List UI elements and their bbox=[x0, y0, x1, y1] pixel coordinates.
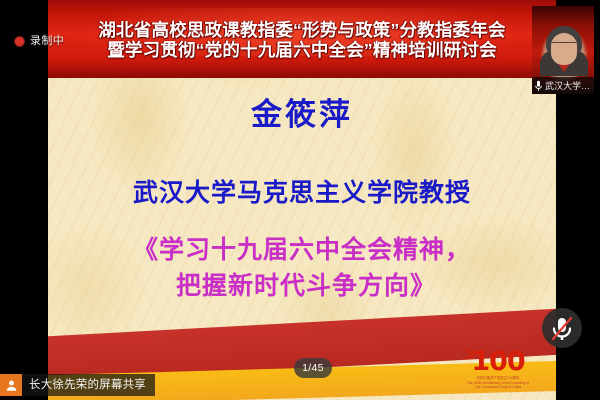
recording-label: 录制中 bbox=[30, 35, 64, 47]
microphone-muted-icon bbox=[542, 308, 582, 348]
hammer-and-sickle-icon bbox=[462, 347, 478, 363]
cpc-caption-line-3: The Communist Party of China bbox=[452, 385, 544, 390]
microphone-icon bbox=[534, 80, 543, 92]
meeting-screen-share-view: 湖北省高校思政课教指委“形势与政策”分教指委年会 暨学习贯彻“党的十九届六中全会… bbox=[0, 0, 600, 400]
letterbox-left bbox=[0, 0, 48, 400]
participant-name-bar: 武汉大学… bbox=[532, 77, 594, 94]
page-indicator: 1/45 bbox=[294, 358, 332, 378]
shared-slide[interactable]: 湖北省高校思政课教指委“形势与政策”分教指委年会 暨学习贯彻“党的十九届六中全会… bbox=[48, 0, 556, 400]
participant-glasses bbox=[552, 42, 576, 49]
participant-face bbox=[551, 33, 577, 65]
cpc-centenary-logo: 100 庆祝中国共产党成立100周年 The 100th Anniversary… bbox=[452, 348, 544, 390]
screen-share-status-bar[interactable]: 长大徐先荣的屏幕共享 bbox=[0, 374, 155, 396]
talk-title-line-2: 把握新时代斗争方向》 bbox=[48, 268, 556, 304]
screen-share-label: 长大徐先荣的屏幕共享 bbox=[22, 374, 155, 396]
banner-title-line-2: 暨学习贯彻“党的十九届六中全会”精神培训研讨会 bbox=[107, 41, 497, 59]
speaker-affiliation: 武汉大学马克思主义学院教授 bbox=[48, 180, 556, 205]
participant-thumbnail[interactable]: 武汉大学… bbox=[532, 6, 594, 94]
recording-indicator[interactable]: 录制中 bbox=[14, 35, 64, 47]
speaker-name: 金筱萍 bbox=[48, 100, 556, 131]
cpc-logo-caption: 庆祝中国共产党成立100周年 The 100th Anniversary of … bbox=[452, 376, 544, 390]
banner-title-line-1: 湖北省高校思政课教指委“形势与政策”分教指委年会 bbox=[98, 21, 505, 39]
talk-title-line-1: 《学习十九届六中全会精神， bbox=[48, 232, 556, 268]
slide-banner: 湖北省高校思政课教指委“形势与政策”分教指委年会 暨学习贯彻“党的十九届六中全会… bbox=[48, 0, 556, 78]
microphone-muted-button[interactable] bbox=[542, 308, 582, 348]
talk-title: 《学习十九届六中全会精神， 把握新时代斗争方向》 bbox=[48, 232, 556, 303]
record-dot-icon bbox=[14, 36, 25, 47]
participant-name: 武汉大学… bbox=[545, 81, 590, 91]
person-icon bbox=[0, 374, 22, 396]
